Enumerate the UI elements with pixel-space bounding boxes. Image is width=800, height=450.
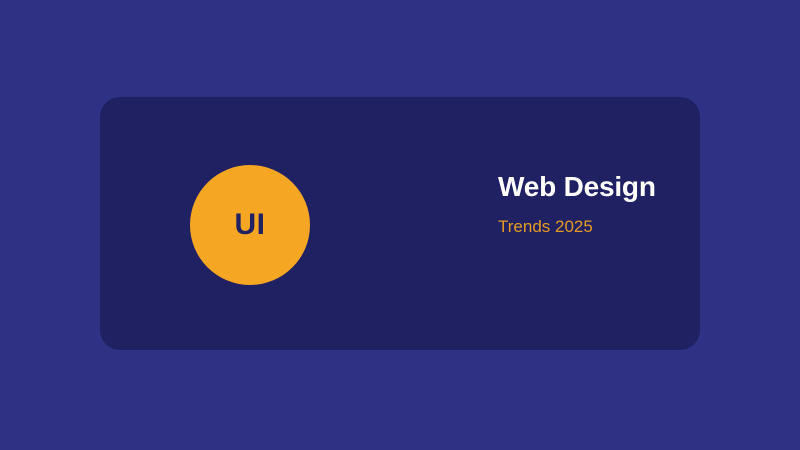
card-subtitle: Trends 2025: [498, 216, 688, 238]
card-title: Web Design: [498, 170, 688, 204]
screen-canvas: UI Web Design Trends 2025: [0, 0, 800, 450]
badge-label: UI: [235, 210, 266, 240]
promo-card[interactable]: UI Web Design Trends 2025: [100, 97, 700, 350]
ui-circle-badge: UI: [190, 165, 310, 285]
card-text-block: Web Design Trends 2025: [498, 170, 688, 238]
